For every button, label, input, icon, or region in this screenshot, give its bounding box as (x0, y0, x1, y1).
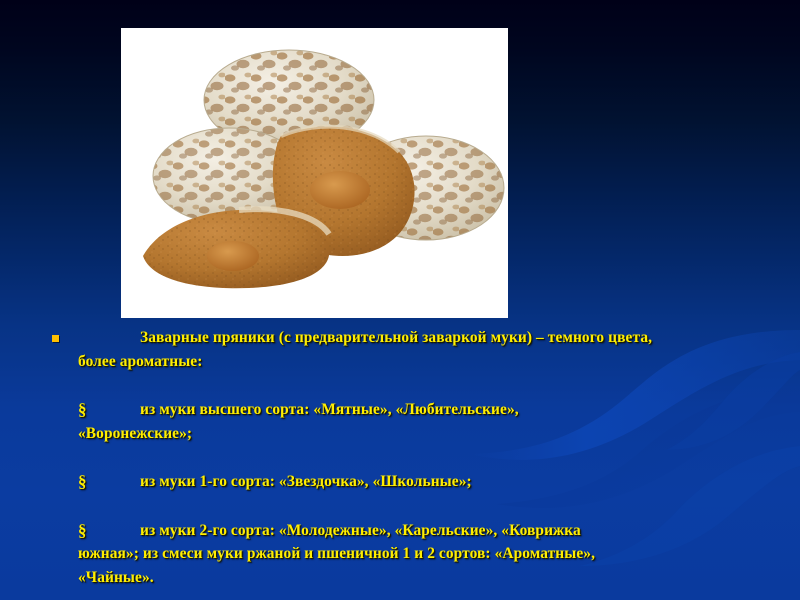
item-0-line-2: «Воронежские»; (78, 422, 784, 446)
item-2-line-1: из муки 2-го сорта: «Молодежные», «Карел… (78, 522, 581, 539)
section-sign-icon: § (78, 519, 87, 543)
slide-body-text: Заварные пряники (с предварительной зава… (44, 326, 784, 589)
spacer (44, 373, 784, 398)
list-item-premium-flour: § из муки высшего сорта: «Мятные», «Люби… (44, 398, 784, 445)
pryaniki-illustration (121, 28, 508, 318)
pryaniki-photo (121, 28, 508, 318)
lead-paragraph: Заварные пряники (с предварительной зава… (44, 326, 784, 373)
item-2-line-3: «Чайные». (78, 566, 784, 590)
section-sign-icon: § (78, 398, 87, 422)
presentation-slide: Заварные пряники (с предварительной зава… (0, 0, 800, 600)
item-2-line-2: южная»; из смеси муки ржаной и пшеничной… (78, 542, 784, 566)
spacer (44, 494, 784, 519)
list-item-second-grade-flour: § из муки 2-го сорта: «Молодежные», «Кар… (44, 519, 784, 590)
item-0-line-1: из муки высшего сорта: «Мятные», «Любите… (78, 401, 519, 418)
section-sign-icon: § (78, 470, 87, 494)
item-1-line-1: из муки 1-го сорта: «Звездочка», «Школьн… (78, 473, 472, 490)
lead-line-1: Заварные пряники (с предварительной зава… (78, 329, 652, 346)
square-bullet-icon (52, 335, 59, 342)
list-item-first-grade-flour: § из муки 1-го сорта: «Звездочка», «Школ… (44, 470, 784, 494)
spacer (44, 445, 784, 470)
lead-line-2: более ароматные: (78, 350, 784, 374)
